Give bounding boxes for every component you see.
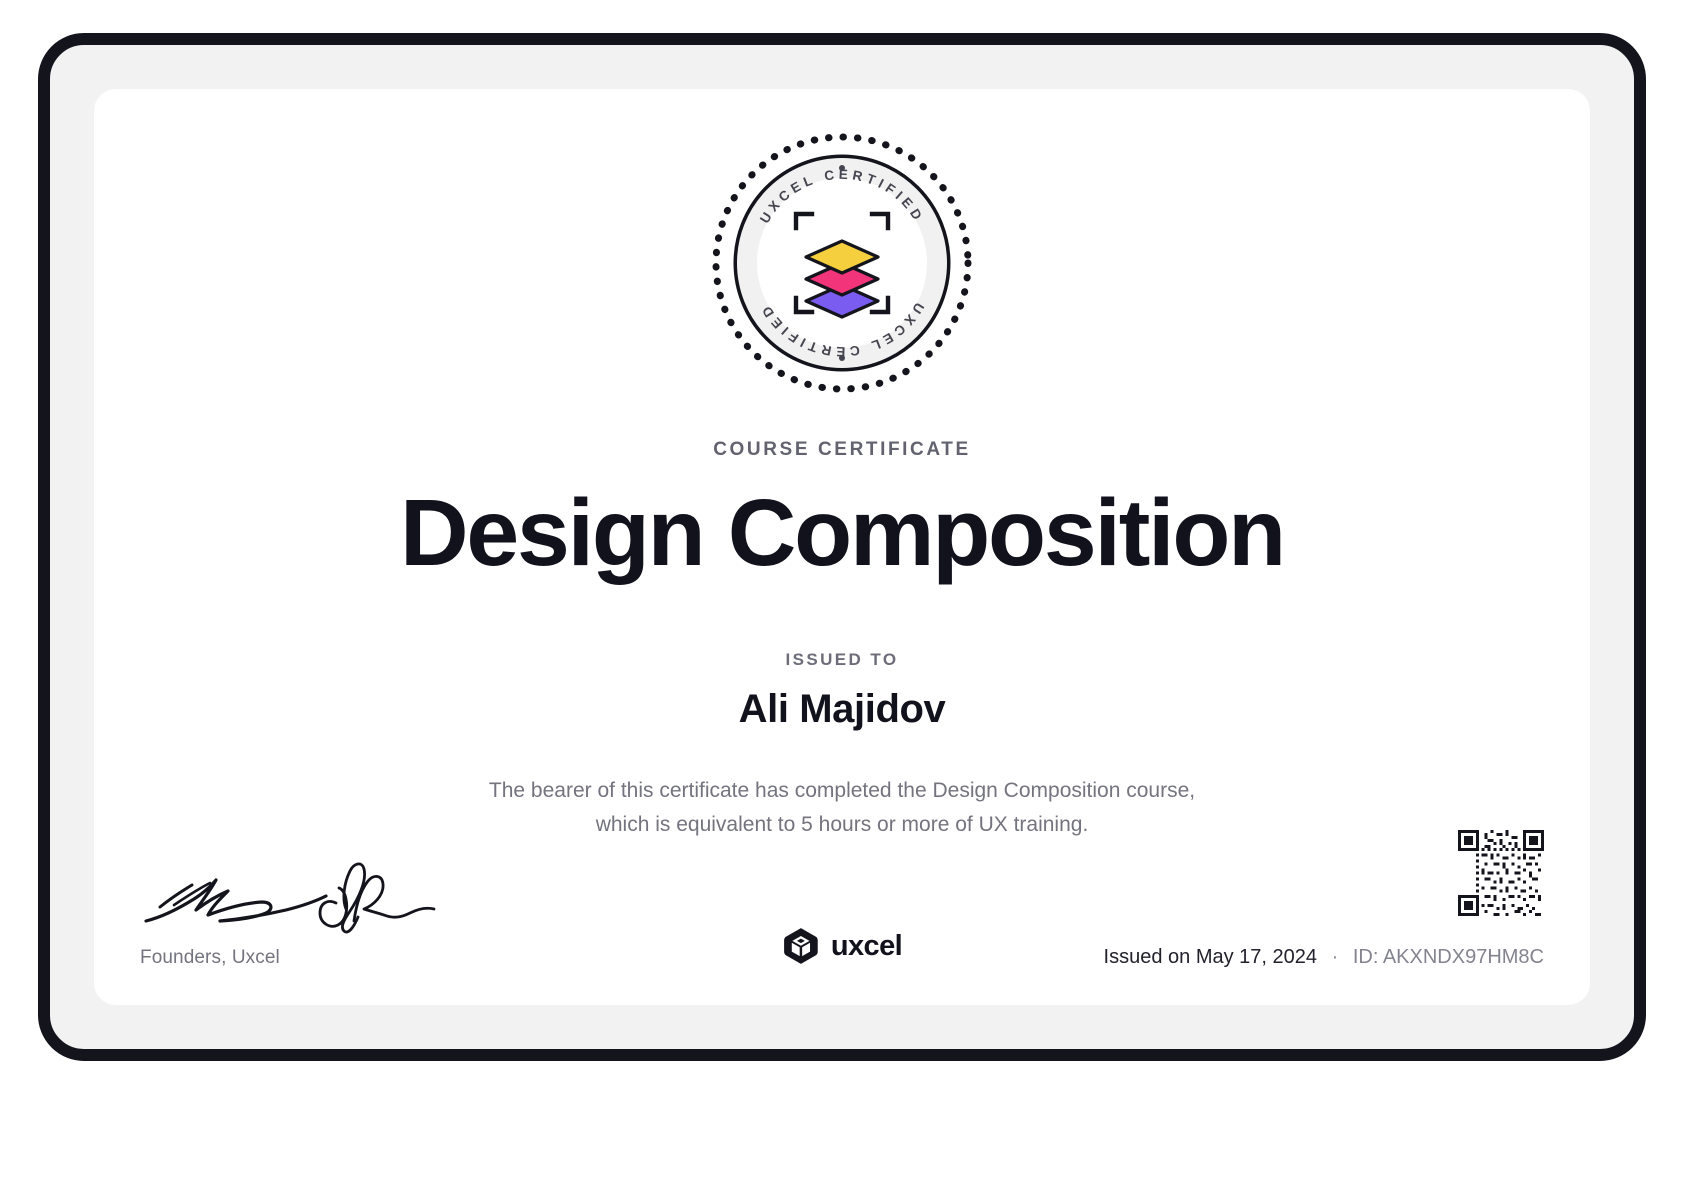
uxcel-cube-hexagon-icon bbox=[782, 927, 820, 965]
certificate-id: ID: AKXNDX97HM8C bbox=[1353, 946, 1544, 968]
certificate-frame: UXCEL CERTIFIED UXCEL CERTIFIED bbox=[38, 33, 1646, 1061]
issue-meta: Issued on May 17, 2024 · ID: AKXNDX97HM8… bbox=[1104, 946, 1544, 969]
certificate-meta: Issued on May 17, 2024 · ID: AKXNDX97HM8… bbox=[1104, 830, 1544, 969]
certified-seal: UXCEL CERTIFIED UXCEL CERTIFIED bbox=[708, 129, 976, 397]
layers-diamond-icon bbox=[806, 241, 878, 317]
description-line-1: The bearer of this certificate has compl… bbox=[392, 774, 1292, 808]
course-title: Design Composition bbox=[94, 483, 1590, 584]
signature-caption: Founders, Uxcel bbox=[140, 947, 470, 969]
recipient-name: Ali Majidov bbox=[94, 687, 1590, 732]
meta-separator: · bbox=[1323, 946, 1348, 968]
seal-graphic: UXCEL CERTIFIED UXCEL CERTIFIED bbox=[708, 129, 976, 397]
founder-signatures bbox=[140, 847, 440, 937]
certificate-kicker: COURSE CERTIFICATE bbox=[94, 439, 1590, 461]
certificate-card: UXCEL CERTIFIED UXCEL CERTIFIED bbox=[94, 89, 1590, 1005]
issued-to-label: ISSUED TO bbox=[94, 650, 1590, 670]
uxcel-wordmark: uxcel bbox=[831, 930, 902, 963]
qr-code-icon[interactable] bbox=[1458, 830, 1544, 916]
uxcel-brand: uxcel bbox=[782, 927, 902, 965]
issued-on-date: Issued on May 17, 2024 bbox=[1104, 946, 1317, 968]
signature-icon bbox=[140, 847, 440, 937]
signature-block: Founders, Uxcel bbox=[140, 847, 470, 969]
